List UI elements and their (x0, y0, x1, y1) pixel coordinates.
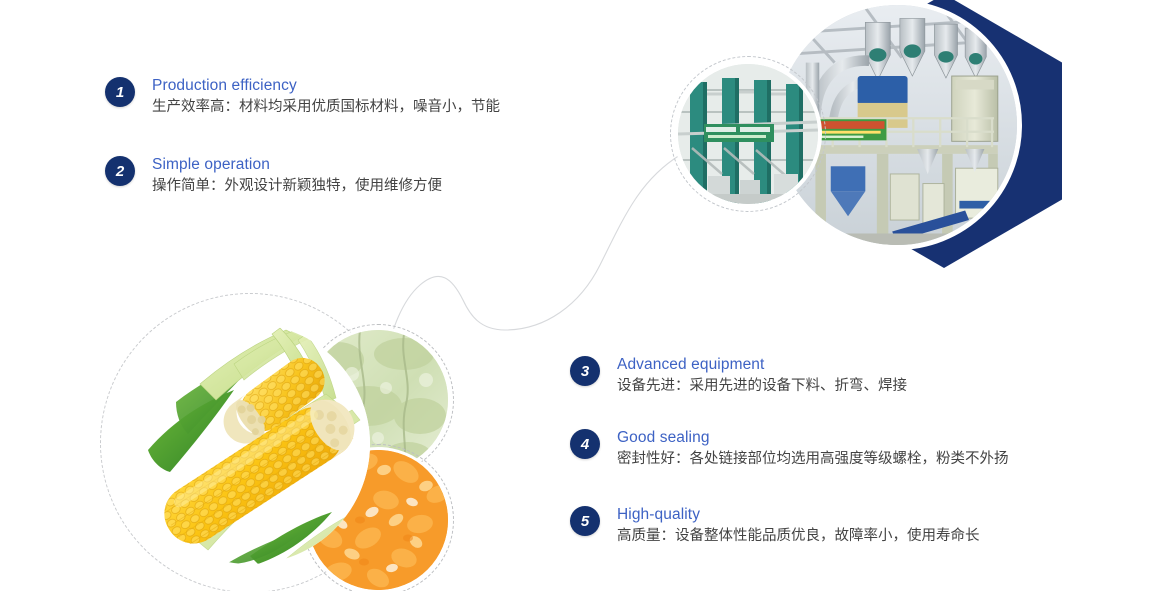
feature-text: High-quality 高质量：设备整体性能品质优良，故障率小，使用寿命长 (617, 505, 980, 547)
feature-number-badge: 3 (570, 356, 600, 386)
feature-item-5[interactable]: 5 High-quality 高质量：设备整体性能品质优良，故障率小，使用寿命长 (570, 505, 980, 547)
feature-title-cn: 密封性好：各处链接部位均选用高强度等级螺栓，粉类不外扬 (617, 448, 1009, 470)
corn-photo (130, 324, 370, 564)
feature-title-en: Advanced equipment (617, 355, 907, 374)
feature-title-en: Good sealing (617, 428, 1009, 447)
corn-media-cluster (90, 288, 480, 588)
feature-text: Simple operation 操作简单：外观设计新颖独特，使用维修方便 (152, 155, 442, 197)
feature-title-cn: 操作简单：外观设计新颖独特，使用维修方便 (152, 175, 442, 197)
feature-title-en: Production efficiency (152, 76, 500, 95)
feature-text: Good sealing 密封性好：各处链接部位均选用高强度等级螺栓，粉类不外扬 (617, 428, 1009, 470)
feature-number-badge: 5 (570, 506, 600, 536)
feature-item-4[interactable]: 4 Good sealing 密封性好：各处链接部位均选用高强度等级螺栓，粉类不… (570, 428, 1009, 470)
feature-item-2[interactable]: 2 Simple operation 操作简单：外观设计新颖独特，使用维修方便 (105, 155, 442, 197)
feature-title-cn: 设备先进：采用先进的设备下料、折弯、焊接 (617, 375, 907, 397)
feature-title-en: Simple operation (152, 155, 442, 174)
machinery-photo-small (678, 64, 818, 204)
feature-title-cn: 高质量：设备整体性能品质优良，故障率小，使用寿命长 (617, 525, 980, 547)
feature-title-en: High-quality (617, 505, 980, 524)
machinery-media-cluster (660, 0, 1080, 274)
feature-item-1[interactable]: 1 Production efficiency 生产效率高：材料均采用优质国标材… (105, 76, 500, 118)
feature-title-cn: 生产效率高：材料均采用优质国标材料，噪音小，节能 (152, 96, 500, 118)
feature-number-badge: 2 (105, 156, 135, 186)
small-machinery-banner (704, 124, 774, 142)
feature-item-3[interactable]: 3 Advanced equipment 设备先进：采用先进的设备下料、折弯、焊… (570, 355, 907, 397)
feature-text: Advanced equipment 设备先进：采用先进的设备下料、折弯、焊接 (617, 355, 907, 397)
feature-number-badge: 1 (105, 77, 135, 107)
feature-text: Production efficiency 生产效率高：材料均采用优质国标材料，… (152, 76, 500, 118)
slide-canvas: 1 Production efficiency 生产效率高：材料均采用优质国标材… (0, 0, 1154, 591)
feature-number-badge: 4 (570, 429, 600, 459)
